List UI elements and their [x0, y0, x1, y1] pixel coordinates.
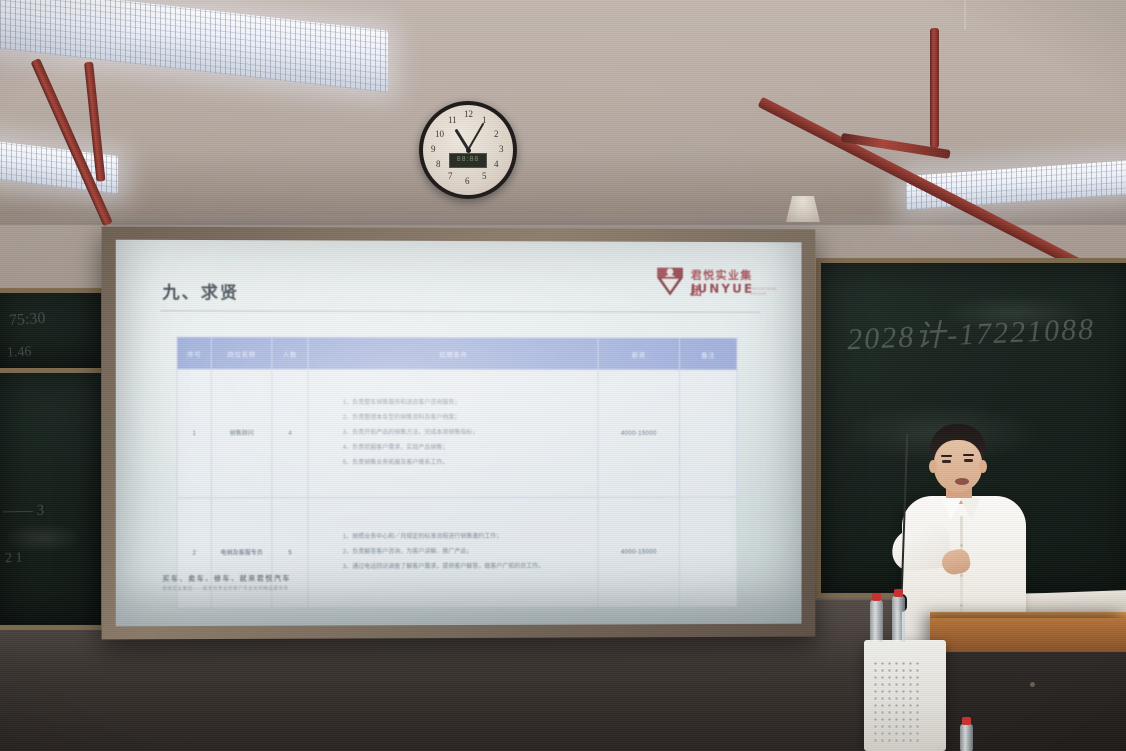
water-bottle [960, 724, 973, 751]
presenter-eye [964, 459, 973, 462]
speaker-cabinet [864, 640, 946, 751]
podium-knob [1030, 682, 1035, 687]
clock-numeral: 10 [435, 129, 444, 139]
wall-clock: 12 1 2 3 4 5 6 7 8 9 10 11 88:88 [419, 101, 517, 199]
col-header-index: 序号 [177, 337, 211, 369]
chalk-text: 1.46 [7, 344, 32, 361]
presenter-ear [979, 460, 987, 473]
slide-title: 九、求贤 [162, 278, 239, 303]
cell-salary: 4000-15000 [598, 497, 679, 607]
clock-center-pin [466, 148, 471, 153]
condition-line: 1、负责整车销售服务和进店客户咨询服务； [343, 396, 598, 411]
presenter [898, 424, 1098, 644]
cell-salary: 4000-15000 [598, 370, 679, 498]
podium-front-panel [946, 652, 1126, 751]
cell-note [679, 497, 736, 607]
clock-numeral: 4 [494, 159, 499, 169]
clock-lcd-text: 88:88 [450, 154, 486, 166]
presentation-slide: 九、求贤 君悦实业集团 JUNYUE INDUSTRIAL GROUP [116, 240, 802, 627]
clock-numeral: 6 [465, 176, 470, 186]
speaker-grille [872, 660, 922, 744]
col-header-headcount: 人数 [272, 337, 308, 369]
water-bottle [870, 600, 883, 642]
col-header-position: 岗位名称 [211, 337, 272, 369]
condition-line: 5、负责销售业务拓展及客户维系工作。 [343, 456, 598, 471]
classroom-photo: 12 1 2 3 4 5 6 7 8 9 10 11 88:88 75:30 1… [0, 0, 1126, 751]
presenter-eyebrow [941, 455, 952, 457]
title-divider [160, 310, 760, 312]
cell-note [679, 370, 736, 497]
cell-headcount: 4 [272, 369, 308, 497]
condition-line: 3、负责开拓产品的销售方法，完成本项销售指标； [343, 426, 598, 441]
shirt-button [960, 544, 963, 547]
shirt-button [960, 574, 963, 577]
sprinkler-riser [930, 28, 939, 148]
chalk-text: —— 3 [3, 503, 45, 521]
hanging-wire [964, 0, 966, 30]
condition-line: 1、按照业务中心和／月规定的标准流程进行销售邀约工作； [343, 530, 598, 546]
table-header-row: 序号 岗位名称 人数 招聘条件 薪资 备注 [177, 337, 737, 370]
table-row: 1 销售顾问 4 1、负责整车销售服务和进店客户咨询服务； 2、负责整理本车型的… [177, 369, 737, 498]
clock-numeral: 12 [464, 109, 473, 119]
cell-position: 销售顾问 [211, 369, 272, 498]
chalk-text: 2 1 [5, 551, 23, 568]
cell-conditions: 1、负责整车销售服务和进店客户咨询服务； 2、负责整理本车型的销售资料及客户档案… [308, 369, 598, 497]
junyue-shield-icon [655, 266, 685, 297]
bottle-cap [962, 717, 971, 725]
clock-numeral: 9 [431, 144, 436, 154]
logo-english-text: JUNYUE [691, 282, 754, 296]
slide-footer-sub: 君悦实业集团——服务的专业的客户专业化的精品服务商 [162, 586, 288, 592]
slide-footer-main: 买车、卖车、修车、就来君悦汽车 [162, 573, 291, 583]
presenter-eyebrow [963, 454, 974, 456]
presenter-ear [929, 460, 937, 473]
company-logo: 君悦实业集团 JUNYUE INDUSTRIAL GROUP [655, 266, 764, 300]
bottle-cap [894, 589, 903, 597]
cell-conditions: 1、按照业务中心和／月规定的标准流程进行销售邀约工作； 2、负责解答客户咨询，为… [308, 497, 598, 608]
clock-numeral: 2 [494, 129, 499, 139]
chalk-smudge [941, 293, 1091, 333]
presenter-eye [942, 460, 951, 463]
col-header-note: 备注 [679, 338, 736, 370]
condition-line: 3、通过电话回访调查了解客户需求，提供客户解答，做客户广拓的员工作。 [343, 560, 598, 576]
condition-line: 4、负责挖掘客户需求，实现产品销售； [343, 441, 598, 456]
recruitment-table: 序号 岗位名称 人数 招聘条件 薪资 备注 1 销售顾问 4 [177, 336, 738, 609]
blackboard-left: —— 3 2 1 [0, 368, 106, 630]
clock-numeral: 8 [436, 159, 441, 169]
cell-position: 电销及客服专员 [211, 498, 272, 609]
presenter-mouth [955, 478, 969, 485]
col-header-conditions: 招聘条件 [308, 337, 598, 369]
clock-numeral: 11 [448, 115, 457, 125]
shirt-button [960, 604, 963, 607]
logo-subtitle: INDUSTRIAL GROUP [750, 286, 780, 296]
clock-minute-hand [467, 123, 484, 151]
chalk-text: 75:30 [8, 310, 46, 330]
blackboard-left-upper: 75:30 1.46 [0, 288, 106, 376]
projection-screen: 九、求贤 君悦实业集团 JUNYUE INDUSTRIAL GROUP [116, 240, 802, 627]
clock-numeral: 5 [482, 171, 487, 181]
chalk-smudge [3, 523, 83, 553]
projection-screen-frame: 九、求贤 君悦实业集团 JUNYUE INDUSTRIAL GROUP [102, 227, 816, 640]
clock-lcd-display: 88:88 [449, 153, 487, 168]
condition-line: 2、负责整理本车型的销售资料及客户档案； [343, 411, 598, 426]
col-header-salary: 薪资 [598, 338, 679, 370]
condition-line: 2、负责解答客户咨询，为客户讲解、推广产品； [343, 545, 598, 561]
clock-numeral: 3 [499, 144, 504, 154]
clock-numeral: 7 [448, 171, 453, 181]
water-bottle [892, 596, 905, 642]
cell-index: 1 [177, 369, 211, 498]
bottle-cap [872, 593, 881, 601]
table-row: 2 电销及客服专员 5 1、按照业务中心和／月规定的标准流程进行销售邀约工作； … [177, 497, 737, 608]
